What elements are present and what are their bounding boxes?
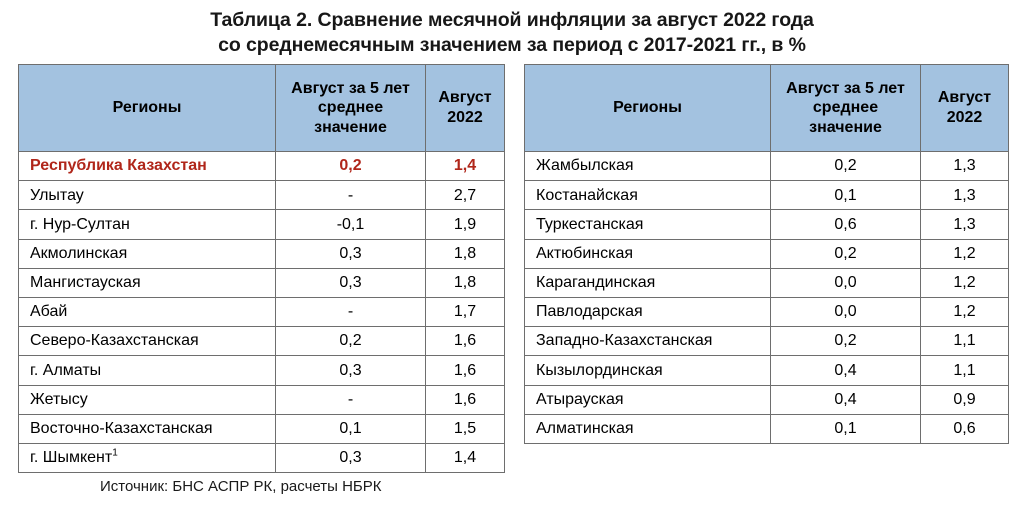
- cell-aug2022: 1,3: [921, 210, 1009, 239]
- cell-region: Западно-Казахстанская: [525, 327, 771, 356]
- cell-aug2022: 1,1: [921, 356, 1009, 385]
- cell-aug2022: 1,9: [426, 210, 505, 239]
- table-right-body: Жамбылская0,21,3Костанайская0,11,3Туркес…: [525, 152, 1009, 444]
- table-row: Атырауская0,40,9: [525, 385, 1009, 414]
- cell-region: Кызылординская: [525, 356, 771, 385]
- cell-region: г. Шымкент1: [19, 443, 276, 472]
- cell-avg5: -0,1: [276, 210, 426, 239]
- header-row: Регионы Август за 5 лет среднее значение…: [525, 65, 1009, 152]
- cell-region: Карагандинская: [525, 268, 771, 297]
- cell-region: Северо-Казахстанская: [19, 327, 276, 356]
- table-row: Актюбинская0,21,2: [525, 239, 1009, 268]
- header-aug2022: Август 2022: [426, 65, 505, 152]
- cell-avg5: 0,1: [771, 181, 921, 210]
- cell-region: г. Алматы: [19, 356, 276, 385]
- cell-avg5: 0,2: [276, 152, 426, 181]
- page-title: Таблица 2. Сравнение месячной инфляции з…: [0, 8, 1024, 58]
- cell-avg5: 0,2: [771, 152, 921, 181]
- table-row: Жетысу-1,6: [19, 385, 505, 414]
- cell-aug2022: 1,4: [426, 152, 505, 181]
- cell-aug2022: 1,1: [921, 327, 1009, 356]
- cell-region: Павлодарская: [525, 297, 771, 326]
- cell-aug2022: 1,8: [426, 268, 505, 297]
- cell-aug2022: 1,2: [921, 268, 1009, 297]
- table-row: Туркестанская0,61,3: [525, 210, 1009, 239]
- table-row: Павлодарская0,01,2: [525, 297, 1009, 326]
- table-row: Акмолинская0,31,8: [19, 239, 505, 268]
- table-row: г. Алматы0,31,6: [19, 356, 505, 385]
- table-row: Западно-Казахстанская0,21,1: [525, 327, 1009, 356]
- table-row: Карагандинская0,01,2: [525, 268, 1009, 297]
- cell-aug2022: 1,5: [426, 414, 505, 443]
- cell-avg5: 0,3: [276, 268, 426, 297]
- cell-aug2022: 1,3: [921, 181, 1009, 210]
- cell-aug2022: 1,2: [921, 239, 1009, 268]
- cell-aug2022: 1,7: [426, 297, 505, 326]
- cell-avg5: 0,0: [771, 268, 921, 297]
- cell-avg5: 0,1: [771, 414, 921, 443]
- cell-avg5: -: [276, 181, 426, 210]
- table-left-body: Республика Казахстан0,21,4Улытау-2,7г. Н…: [19, 152, 505, 473]
- cell-aug2022: 0,6: [921, 414, 1009, 443]
- table-row: Абай-1,7: [19, 297, 505, 326]
- cell-region: Абай: [19, 297, 276, 326]
- cell-region: г. Нур-Султан: [19, 210, 276, 239]
- cell-region: Атырауская: [525, 385, 771, 414]
- cell-region: Алматинская: [525, 414, 771, 443]
- cell-region: Восточно-Казахстанская: [19, 414, 276, 443]
- header-row: Регионы Август за 5 лет среднее значение…: [19, 65, 505, 152]
- header-regions: Регионы: [19, 65, 276, 152]
- cell-avg5: -: [276, 297, 426, 326]
- cell-avg5: 0,2: [771, 327, 921, 356]
- table-right-header: Регионы Август за 5 лет среднее значение…: [525, 65, 1009, 152]
- cell-aug2022: 1,4: [426, 443, 505, 472]
- footnote-marker: 1: [112, 448, 118, 459]
- table-left-header: Регионы Август за 5 лет среднее значение…: [19, 65, 505, 152]
- cell-aug2022: 1,3: [921, 152, 1009, 181]
- cell-aug2022: 1,6: [426, 327, 505, 356]
- cell-region: Республика Казахстан: [19, 152, 276, 181]
- cell-avg5: 0,4: [771, 356, 921, 385]
- cell-region: Костанайская: [525, 181, 771, 210]
- cell-avg5: 0,3: [276, 239, 426, 268]
- cell-aug2022: 1,6: [426, 385, 505, 414]
- cell-aug2022: 1,6: [426, 356, 505, 385]
- cell-avg5: 0,2: [276, 327, 426, 356]
- cell-avg5: 0,4: [771, 385, 921, 414]
- cell-aug2022: 1,2: [921, 297, 1009, 326]
- table-row: Улытау-2,7: [19, 181, 505, 210]
- cell-avg5: -: [276, 385, 426, 414]
- page-root: Таблица 2. Сравнение месячной инфляции з…: [0, 0, 1024, 520]
- table-row: г. Шымкент10,31,4: [19, 443, 505, 472]
- table-row: г. Нур-Султан-0,11,9: [19, 210, 505, 239]
- table-row: Восточно-Казахстанская0,11,5: [19, 414, 505, 443]
- cell-avg5: 0,1: [276, 414, 426, 443]
- cell-aug2022: 2,7: [426, 181, 505, 210]
- cell-avg5: 0,3: [276, 356, 426, 385]
- cell-region: Акмолинская: [19, 239, 276, 268]
- cell-region: Мангистауская: [19, 268, 276, 297]
- cell-region: Туркестанская: [525, 210, 771, 239]
- cell-avg5: 0,0: [771, 297, 921, 326]
- inflation-table-left: Регионы Август за 5 лет среднее значение…: [18, 64, 505, 473]
- header-aug2022: Август 2022: [921, 65, 1009, 152]
- cell-region: Актюбинская: [525, 239, 771, 268]
- title-line-1: Таблица 2. Сравнение месячной инфляции з…: [0, 8, 1024, 33]
- inflation-table-right: Регионы Август за 5 лет среднее значение…: [524, 64, 1009, 444]
- table-row: Республика Казахстан0,21,4: [19, 152, 505, 181]
- table-row: Алматинская0,10,6: [525, 414, 1009, 443]
- cell-avg5: 0,6: [771, 210, 921, 239]
- cell-region: Жамбылская: [525, 152, 771, 181]
- header-regions: Регионы: [525, 65, 771, 152]
- header-avg5: Август за 5 лет среднее значение: [771, 65, 921, 152]
- cell-aug2022: 0,9: [921, 385, 1009, 414]
- table-row: Мангистауская0,31,8: [19, 268, 505, 297]
- cell-region: Жетысу: [19, 385, 276, 414]
- cell-avg5: 0,2: [771, 239, 921, 268]
- table-row: Кызылординская0,41,1: [525, 356, 1009, 385]
- cell-region: Улытау: [19, 181, 276, 210]
- table-row: Северо-Казахстанская0,21,6: [19, 327, 505, 356]
- header-avg5: Август за 5 лет среднее значение: [276, 65, 426, 152]
- title-line-2: со среднемесячным значением за период с …: [0, 33, 1024, 58]
- table-row: Костанайская0,11,3: [525, 181, 1009, 210]
- table-row: Жамбылская0,21,3: [525, 152, 1009, 181]
- cell-avg5: 0,3: [276, 443, 426, 472]
- cell-aug2022: 1,8: [426, 239, 505, 268]
- source-note: Источник: БНС АСПР РК, расчеты НБРК: [100, 478, 382, 495]
